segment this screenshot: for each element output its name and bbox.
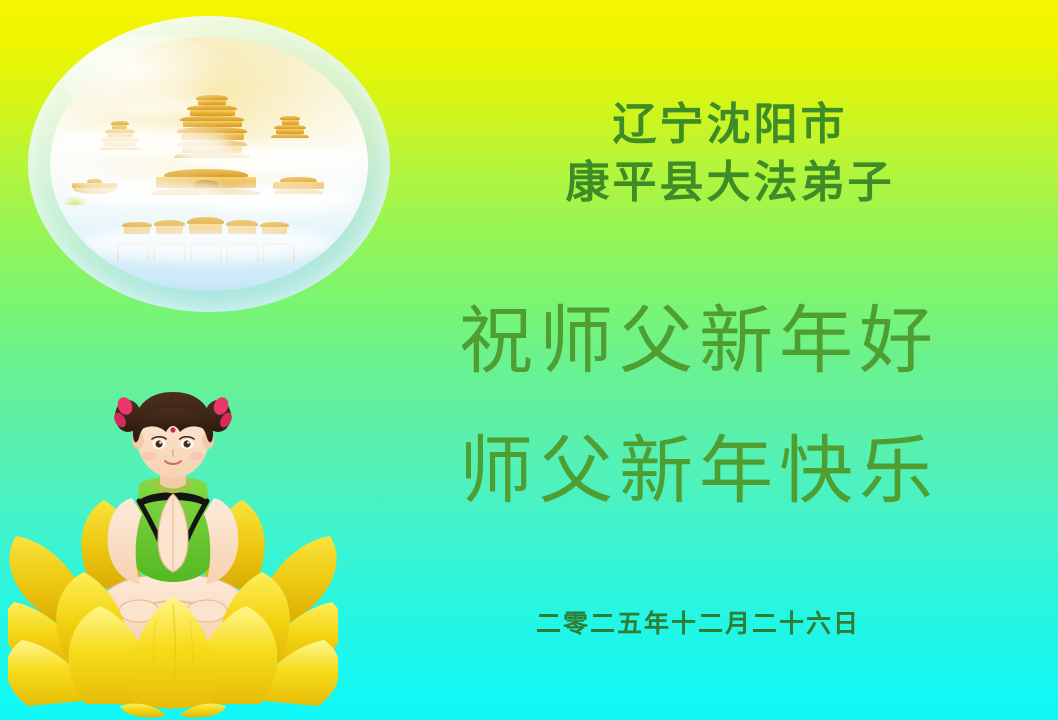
celestial-palaces-sphere <box>28 16 390 312</box>
greeting-text-block: 祝师父新年好 师父新年快乐 <box>358 276 1040 536</box>
date-text-block: 二零二五年十二月二十六日 <box>388 604 1008 640</box>
header-text-block: 辽宁沈阳市 康平县大法弟子 <box>430 96 1030 212</box>
lotus-child-illustration <box>8 368 338 720</box>
right-pagoda-icon <box>273 116 308 138</box>
date-text: 二零二五年十二月二十六日 <box>388 604 1008 640</box>
cloud-band <box>82 225 337 261</box>
greeting-card: 辽宁沈阳市 康平县大法弟子 祝师父新年好 师父新年快乐 二零二五年十二月二十六日 <box>0 0 1058 720</box>
sphere-highlight <box>64 34 231 123</box>
cloud-band <box>177 144 362 172</box>
bird-icon <box>62 195 88 205</box>
greeting-line-1: 祝师父新年好 <box>358 276 1040 406</box>
header-line-group: 康平县大法弟子 <box>430 154 1030 212</box>
header-line-location: 辽宁沈阳市 <box>430 96 1030 154</box>
cloud-band <box>190 184 356 212</box>
greeting-line-2: 师父新年快乐 <box>358 406 1040 536</box>
child-meditating-on-lotus <box>8 368 338 720</box>
